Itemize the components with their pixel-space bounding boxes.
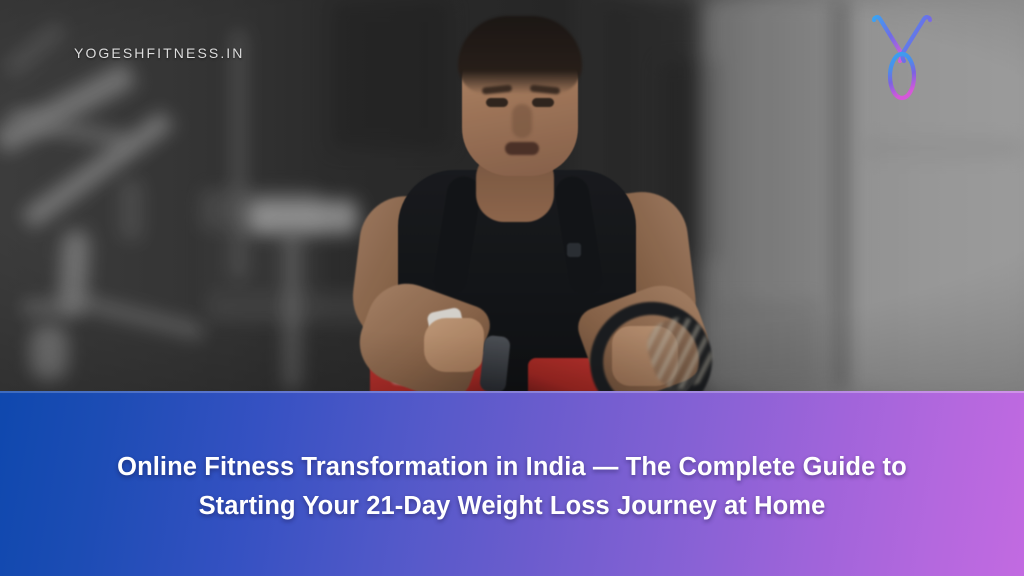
battle-rope-handle [479,335,511,391]
eye-left [486,98,508,107]
tank-top-logo [567,243,581,257]
brand-logo[interactable] [866,8,938,104]
hero-banner-page: YOGESHFITNESS.IN [0,0,1024,576]
mouth [505,142,539,155]
nose [512,104,532,138]
site-watermark: YOGESHFITNESS.IN [74,45,245,61]
title-banner: Online Fitness Transformation in India —… [0,391,1024,576]
hair [458,16,582,94]
y-logo-icon [866,8,938,104]
left-hand [424,318,484,372]
hero-photo: YOGESHFITNESS.IN [0,0,1024,391]
banner-top-divider [0,391,1024,393]
eye-right [532,98,554,107]
page-title: Online Fitness Transformation in India —… [112,442,912,526]
